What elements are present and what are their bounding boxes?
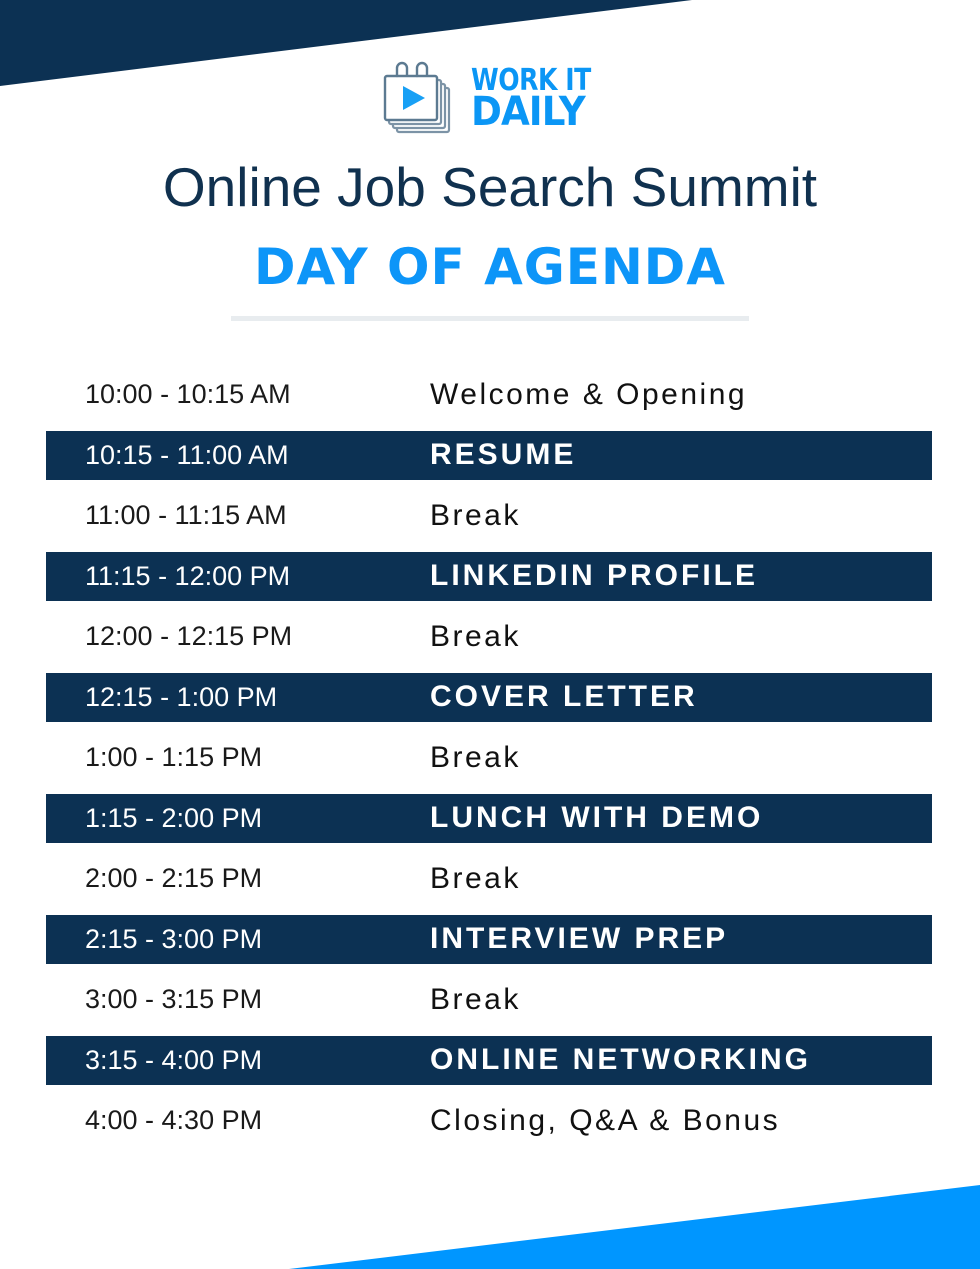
agenda-row-title: INTERVIEW PREP — [430, 922, 728, 956]
logo-wordmark: WORK IT DAILY — [471, 68, 600, 130]
agenda-row-time: 12:00 - 12:15 PM — [85, 621, 292, 652]
agenda-row-title: Break — [430, 983, 521, 1017]
agenda-row-time: 11:15 - 12:00 PM — [85, 561, 290, 592]
agenda-row: 12:00 - 12:15 PMBreak — [0, 612, 980, 661]
agenda-row: 1:00 - 1:15 PMBreak — [0, 733, 980, 782]
brand-logo: WORK IT DAILY — [0, 58, 980, 138]
agenda-row-title: Closing, Q&A & Bonus — [430, 1104, 780, 1138]
calendar-play-icon — [381, 58, 459, 138]
logo-line-2: DAILY — [471, 95, 591, 130]
agenda-row-time: 11:00 - 11:15 AM — [85, 500, 287, 531]
agenda-row-title: Welcome & Opening — [430, 378, 747, 412]
agenda-row: 2:15 - 3:00 PMINTERVIEW PREP — [0, 915, 980, 964]
agenda-row: 3:15 - 4:00 PMONLINE NETWORKING — [0, 1036, 980, 1085]
agenda-row: 11:15 - 12:00 PMLINKEDIN PROFILE — [0, 552, 980, 601]
agenda-row-title: ONLINE NETWORKING — [430, 1043, 811, 1077]
agenda-row: 4:00 - 4:30 PMClosing, Q&A & Bonus — [0, 1096, 980, 1145]
agenda-row-time: 1:00 - 1:15 PM — [85, 742, 262, 773]
agenda-row-title: Break — [430, 862, 521, 896]
agenda-row-title: Break — [430, 741, 521, 775]
agenda-row: 1:15 - 2:00 PMLUNCH WITH DEMO — [0, 794, 980, 843]
page-title: Online Job Search Summit — [0, 155, 980, 219]
agenda-row-title: LUNCH WITH DEMO — [430, 801, 763, 835]
agenda-row: 2:00 - 2:15 PMBreak — [0, 854, 980, 903]
agenda-row-time: 12:15 - 1:00 PM — [85, 682, 277, 713]
agenda-row: 11:00 - 11:15 AMBreak — [0, 491, 980, 540]
agenda-row: 3:00 - 3:15 PMBreak — [0, 975, 980, 1024]
agenda-poster: WORK IT DAILY Online Job Search Summit D… — [0, 0, 980, 1269]
agenda-row-time: 2:15 - 3:00 PM — [85, 924, 262, 955]
agenda-row-title: RESUME — [430, 438, 576, 472]
page-subtitle: DAY OF AGENDA — [0, 238, 980, 296]
agenda-row-title: COVER LETTER — [430, 680, 698, 714]
agenda-row-title: Break — [430, 499, 521, 533]
agenda-row-title: LINKEDIN PROFILE — [430, 559, 758, 593]
agenda-row-title: Break — [430, 620, 521, 654]
agenda-list: 10:00 - 10:15 AMWelcome & Opening10:15 -… — [0, 370, 980, 1157]
agenda-row-time: 10:15 - 11:00 AM — [85, 440, 289, 471]
agenda-row: 10:15 - 11:00 AMRESUME — [0, 431, 980, 480]
agenda-row-time: 3:15 - 4:00 PM — [85, 1045, 262, 1076]
agenda-row-time: 3:00 - 3:15 PM — [85, 984, 262, 1015]
agenda-row-time: 10:00 - 10:15 AM — [85, 379, 291, 410]
agenda-row-time: 4:00 - 4:30 PM — [85, 1105, 262, 1136]
agenda-row: 10:00 - 10:15 AMWelcome & Opening — [0, 370, 980, 419]
agenda-row: 12:15 - 1:00 PMCOVER LETTER — [0, 673, 980, 722]
agenda-row-time: 2:00 - 2:15 PM — [85, 863, 262, 894]
agenda-row-time: 1:15 - 2:00 PM — [85, 803, 262, 834]
title-divider — [231, 316, 749, 321]
